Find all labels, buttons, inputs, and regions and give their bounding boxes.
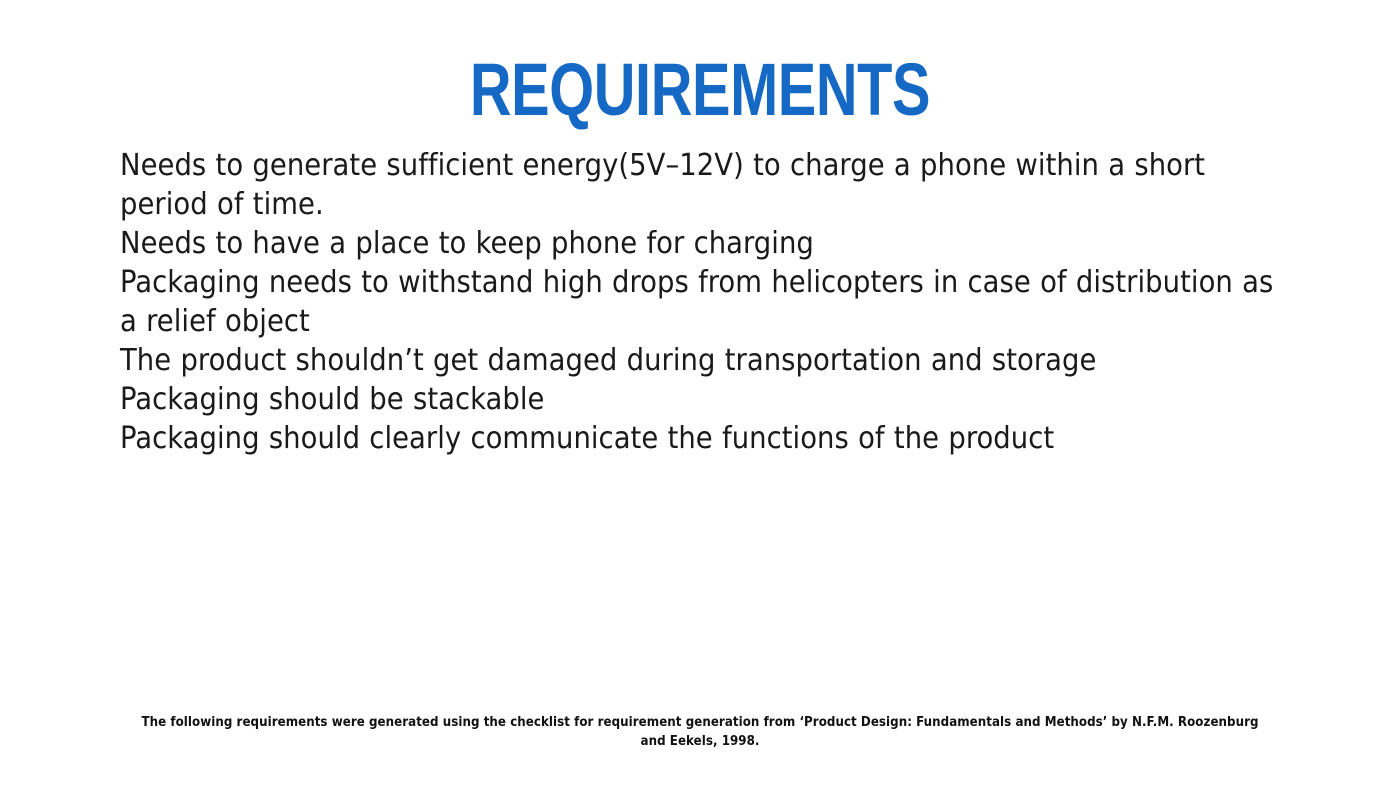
page-title: REQUIREMENTS [154,52,1246,128]
list-item: Packaging needs to withstand high drops … [120,263,1280,341]
list-item: The product shouldn’t get damaged during… [120,341,1280,380]
presentation-slide: REQUIREMENTS Needs to generate sufficien… [0,0,1400,788]
requirements-list: Needs to generate sufficient energy(5V–1… [120,146,1280,458]
list-item: Needs to have a place to keep phone for … [120,224,1280,263]
list-item: Packaging should clearly communicate the… [120,419,1280,458]
list-item: Needs to generate sufficient energy(5V–1… [120,146,1280,224]
list-item: Packaging should be stackable [120,380,1280,419]
source-footnote: The following requirements were generate… [128,713,1272,751]
